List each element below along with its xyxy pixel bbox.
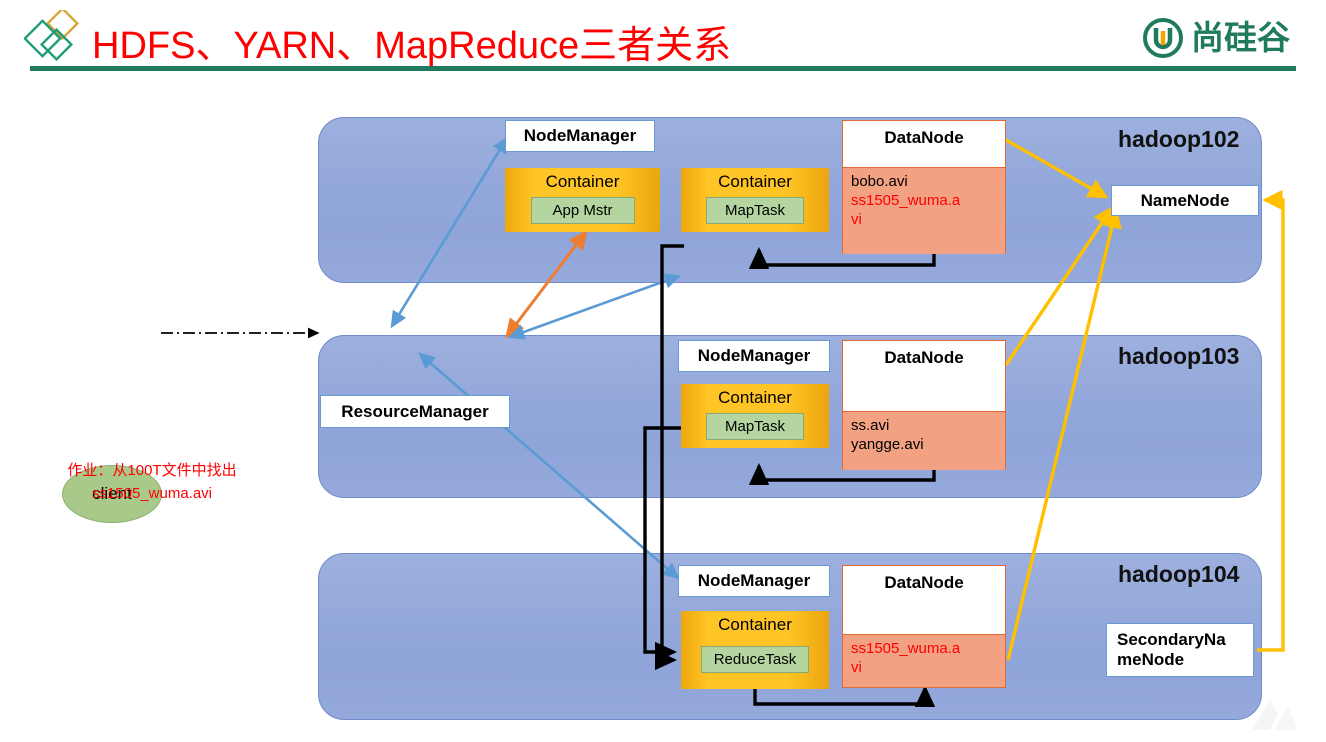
diagram-canvas: hadoop102 hadoop103 hadoop104 client 作业：… [0,80,1326,742]
edge-rm-nodemanager-103 [510,276,679,337]
datanode-hadoop103[interactable]: DataNode ss.avi yangge.avi [842,340,1006,470]
page-title: HDFS、YARN、MapReduce三者关系 [92,14,731,69]
datanode-title: DataNode [843,566,1005,634]
cluster-label-hadoop102: hadoop102 [1118,126,1239,153]
task-reducetask[interactable]: ReduceTask [701,646,809,673]
file-name: yangge.avi [851,436,997,455]
nodemanager-hadoop102[interactable]: NodeManager [505,120,655,152]
task-maptask-103[interactable]: MapTask [706,413,804,440]
watermark-icon [1244,692,1304,736]
file-name: ss.avi [851,417,997,436]
container-maptask-hadoop102[interactable]: Container MapTask [681,168,829,232]
datanode-title: DataNode [843,121,1005,167]
brand-logo: 尚硅谷 [1143,14,1290,62]
file-name: bobo.avi [851,173,997,192]
container-title: Container [718,389,792,408]
file-name: ss1505_wuma.a [851,192,997,211]
datanode-title: DataNode [843,341,1005,411]
datanode-hadoop102[interactable]: DataNode bobo.avi ss1505_wuma.a vi [842,120,1006,254]
diamond-logo-icon [24,10,86,70]
datanode-hadoop104[interactable]: DataNode ss1505_wuma.a vi [842,565,1006,688]
datanode-files-102: bobo.avi ss1505_wuma.a vi [843,167,1005,254]
container-title: Container [718,173,792,192]
cluster-label-hadoop104: hadoop104 [1118,561,1239,588]
header-divider [30,66,1296,71]
container-maptask-hadoop103[interactable]: Container MapTask [681,384,829,448]
task-app-mstr[interactable]: App Mstr [531,197,635,224]
cluster-label-hadoop103: hadoop103 [1118,343,1239,370]
nodemanager-hadoop103[interactable]: NodeManager [678,340,830,372]
file-name: vi [851,659,997,678]
nodemanager-hadoop104[interactable]: NodeManager [678,565,830,597]
brand-name: 尚硅谷 [1191,18,1290,58]
container-title: Container [546,173,620,192]
file-name: ss1505_wuma.a [851,640,997,659]
client-job-note: 作业：从100T文件中找出 ss1505_wuma.avi [42,460,262,505]
container-reducetask-hadoop104[interactable]: Container ReduceTask [681,611,829,689]
datanode-files-103: ss.avi yangge.avi [843,411,1005,470]
file-name: vi [851,211,997,230]
task-maptask-102[interactable]: MapTask [706,197,804,224]
atguigu-u-icon [1143,18,1183,58]
secondarynamenode[interactable]: SecondaryNa meNode [1106,623,1254,677]
datanode-files-104: ss1505_wuma.a vi [843,634,1005,687]
resourcemanager[interactable]: ResourceManager [320,395,510,428]
slide-header: HDFS、YARN、MapReduce三者关系 尚硅谷 [0,0,1326,80]
namenode[interactable]: NameNode [1111,185,1259,216]
container-title: Container [718,616,792,635]
container-appmaster-hadoop102[interactable]: Container App Mstr [505,168,660,232]
